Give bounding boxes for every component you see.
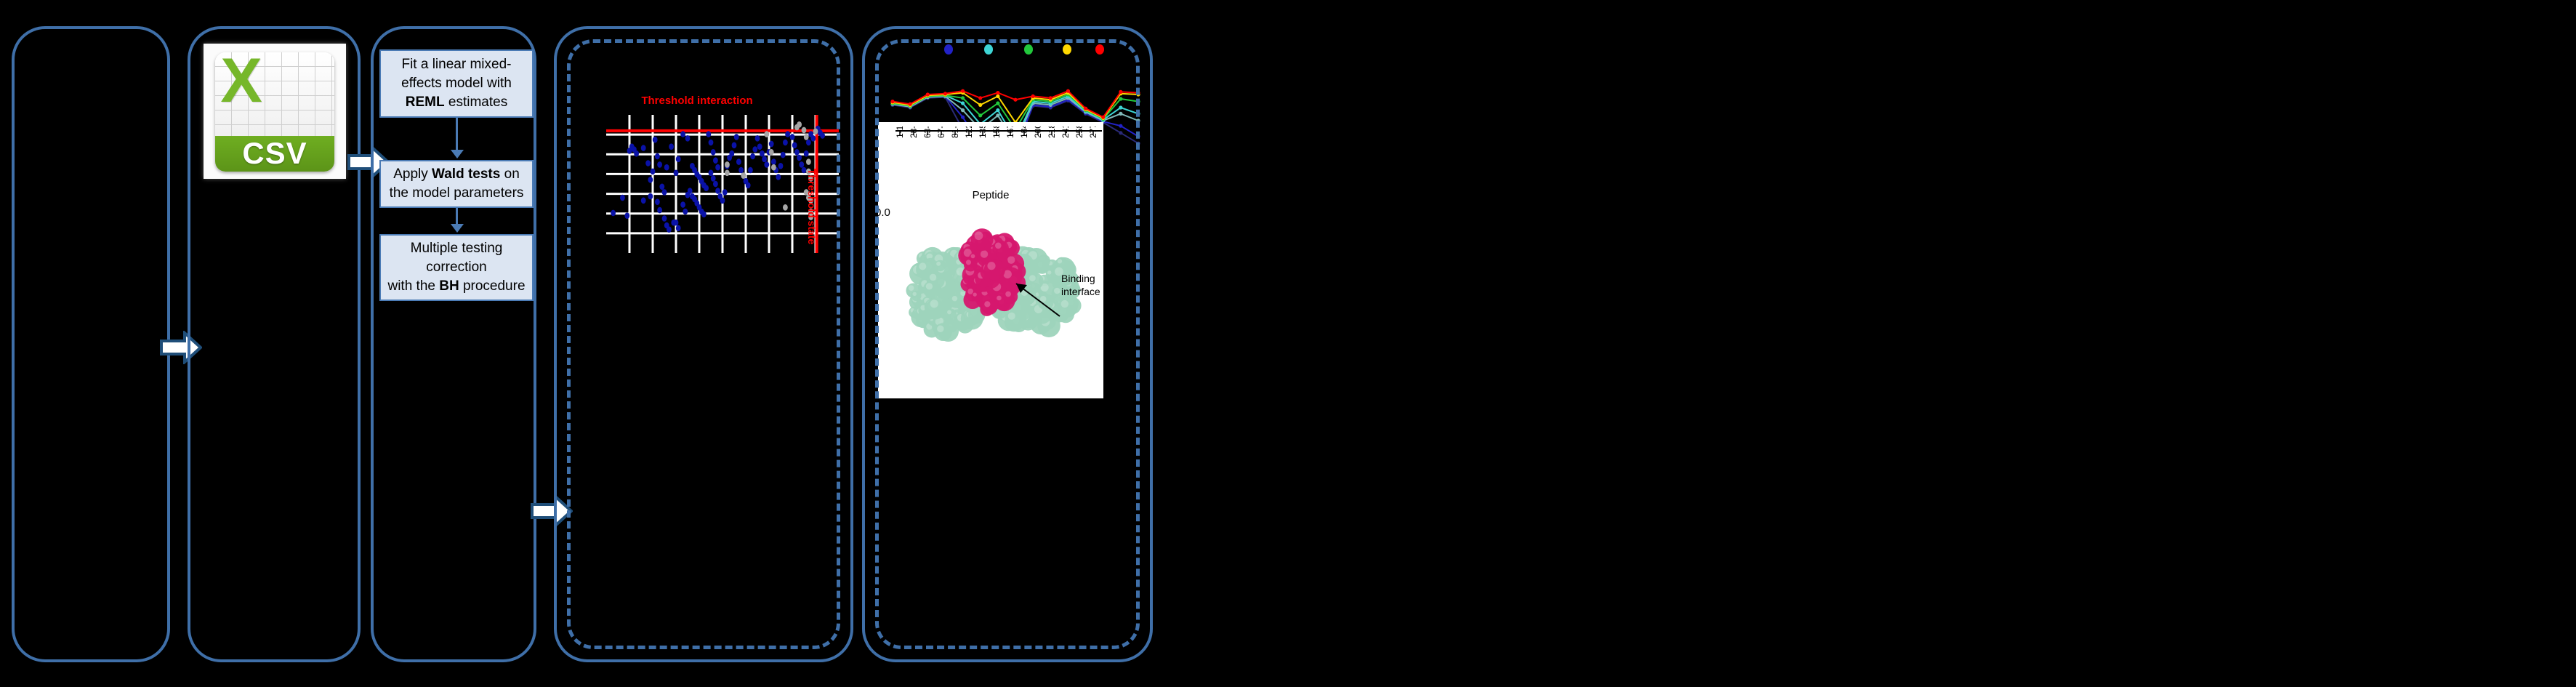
binding-label-line2: interface — [1061, 286, 1100, 297]
peptide-axis-ticks: 1-1528-4463-7367-7581-101122-129135-1441… — [878, 126, 1103, 189]
step3-bold: BH — [439, 278, 459, 294]
svg-text:277-284: 277-284 — [1088, 126, 1098, 138]
scatter-panel: Threshold interaction Threshold state — [554, 26, 853, 662]
step1-line2: effects model with — [401, 76, 512, 91]
excel-x-glyph: X — [218, 54, 265, 108]
method-step-2[interactable]: Apply Wald tests on the model parameters — [379, 160, 534, 208]
svg-text:200-214: 200-214 — [1033, 126, 1043, 138]
step1-bold: REML — [406, 95, 445, 110]
method-panel: Fit a linear mixed- effects model with R… — [371, 26, 536, 662]
step3-post: procedure — [459, 278, 526, 294]
method-step-1[interactable]: Fit a linear mixed- effects model with R… — [379, 49, 534, 118]
step1-line3: estimates — [445, 95, 508, 110]
binding-interface-label: Binding interface — [1061, 272, 1103, 298]
threshold-interaction-label: Threshold interaction — [577, 95, 817, 107]
step3-line2: correction — [426, 260, 486, 275]
threshold-state-label: Threshold state — [806, 169, 818, 244]
svg-text:67-75: 67-75 — [936, 126, 946, 138]
svg-text:158-166: 158-166 — [991, 126, 1002, 138]
connector-2-arrowhead — [451, 224, 464, 233]
step2-pre: Apply — [393, 166, 432, 182]
step2-bold: Wald tests — [432, 166, 500, 182]
svg-text:218-237: 218-237 — [1047, 126, 1057, 138]
svg-text:167-180: 167-180 — [1005, 126, 1015, 138]
step2-line2: the model parameters — [390, 185, 524, 201]
step1-line1: Fit a linear mixed- — [401, 57, 511, 72]
peptide-axis-label: Peptide — [878, 189, 1103, 201]
result-panel: 0.0 1-1528-4463-7367-7581-101122-129135-… — [862, 26, 1153, 662]
csv-type-label: CSV — [215, 136, 334, 172]
series-legend — [872, 42, 1143, 57]
method-step-3[interactable]: Multiple testing correction with the BH … — [379, 234, 534, 301]
step2-post: on — [500, 166, 519, 182]
csv-file-icon: X CSV — [204, 44, 346, 179]
csv-panel: X CSV — [188, 26, 361, 662]
scatter-chart — [606, 115, 839, 253]
svg-text:122-129: 122-129 — [964, 126, 974, 138]
input-panel — [12, 26, 170, 662]
step3-pre: with the — [387, 278, 439, 294]
connector-1 — [456, 118, 458, 151]
connector-2 — [456, 208, 458, 225]
peptide-structure-card: 0.0 1-1528-4463-7367-7581-101122-129135-… — [878, 122, 1103, 398]
svg-text:135-144: 135-144 — [978, 126, 988, 138]
svg-text:1-15: 1-15 — [895, 126, 905, 138]
svg-text:241-257: 241-257 — [1060, 126, 1071, 138]
csv-icon-tile: X CSV — [215, 52, 334, 172]
svg-text:184-199: 184-199 — [1019, 126, 1029, 138]
svg-text:81-101: 81-101 — [950, 126, 960, 138]
connector-1-arrowhead — [451, 150, 464, 158]
svg-text:258-266: 258-266 — [1074, 126, 1084, 138]
svg-text:28-44: 28-44 — [909, 126, 919, 138]
binding-label-line1: Binding — [1061, 273, 1095, 284]
svg-text:63-73: 63-73 — [922, 126, 933, 138]
step3-line1: Multiple testing — [411, 241, 503, 256]
